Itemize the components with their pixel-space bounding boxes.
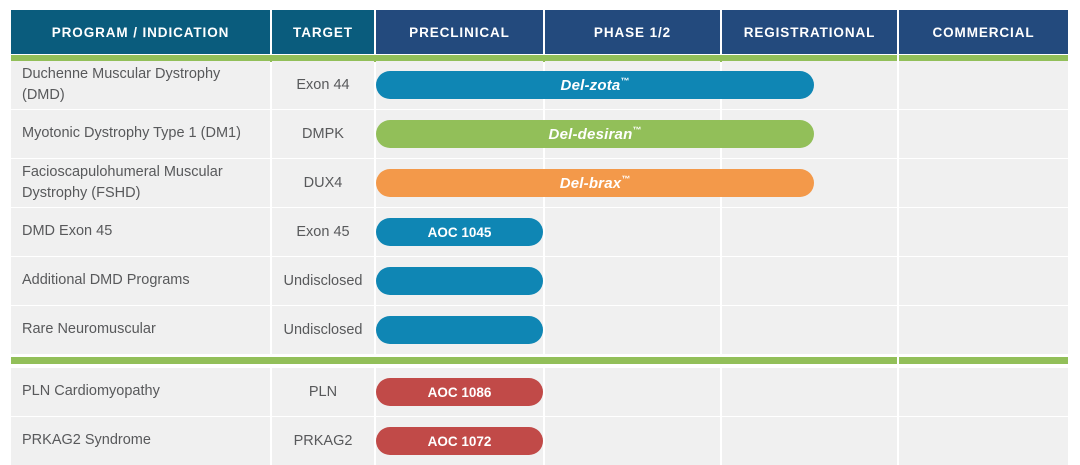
- cell-commercial: [899, 306, 1068, 354]
- pipeline-pill-aoc-1072[interactable]: AOC 1072: [376, 427, 543, 455]
- cell-registrational: [722, 417, 897, 465]
- row-target: Exon 44: [272, 61, 374, 109]
- pipeline-pill-aoc-1045[interactable]: AOC 1045: [376, 218, 543, 246]
- pill-label: AOC 1045: [428, 225, 492, 240]
- row-program: Facioscapulohumeral Muscular Dystrophy (…: [11, 159, 270, 207]
- column-header-label: PRECLINICAL: [409, 25, 510, 40]
- row-target: Exon 45: [272, 208, 374, 256]
- table-row: PLN Cardiomyopathy PLN AOC 1086: [11, 368, 1068, 416]
- table-row: Duchenne Muscular Dystrophy (DMD) Exon 4…: [11, 61, 1068, 109]
- cell-phase-1-2: [545, 368, 720, 416]
- pipeline-pill-del-brax[interactable]: Del-brax™: [376, 169, 814, 197]
- column-header-label: REGISTRATIONAL: [744, 25, 876, 40]
- column-header-label: PROGRAM / INDICATION: [52, 25, 230, 40]
- cell-phase-1-2: [545, 208, 720, 256]
- row-program: Additional DMD Programs: [11, 257, 270, 305]
- pill-label: Del-brax: [560, 175, 622, 192]
- cell-registrational: [722, 208, 897, 256]
- row-target: PLN: [272, 368, 374, 416]
- pipeline-header-row: PROGRAM / INDICATION TARGET PRECLINICAL …: [11, 10, 1068, 54]
- pipeline-pill-additional-dmd[interactable]: [376, 267, 543, 295]
- table-row: Rare Neuromuscular Undisclosed: [11, 306, 1068, 354]
- row-program: Rare Neuromuscular: [11, 306, 270, 354]
- row-program: Duchenne Muscular Dystrophy (DMD): [11, 61, 270, 109]
- table-row: PRKAG2 Syndrome PRKAG2 AOC 1072: [11, 417, 1068, 465]
- trademark-symbol: ™: [621, 174, 630, 184]
- table-row: Facioscapulohumeral Muscular Dystrophy (…: [11, 159, 1068, 207]
- cell-registrational: [722, 257, 897, 305]
- column-header-label: COMMERCIAL: [933, 25, 1035, 40]
- table-row: DMD Exon 45 Exon 45 AOC 1045: [11, 208, 1068, 256]
- pipeline-chart: PROGRAM / INDICATION TARGET PRECLINICAL …: [11, 10, 1068, 457]
- pipeline-pill-rare-neuromuscular[interactable]: [376, 316, 543, 344]
- pill-label: Del-zota: [561, 77, 621, 94]
- table-row: Myotonic Dystrophy Type 1 (DM1) DMPK Del…: [11, 110, 1068, 158]
- cell-phase-1-2: [545, 257, 720, 305]
- row-target: DMPK: [272, 110, 374, 158]
- trademark-symbol: ™: [620, 76, 629, 86]
- pipeline-pill-del-zota[interactable]: Del-zota™: [376, 71, 814, 99]
- column-header-program-indication: PROGRAM / INDICATION: [11, 10, 270, 54]
- row-target: PRKAG2: [272, 417, 374, 465]
- column-header-phase-1-2: PHASE 1/2: [545, 10, 720, 54]
- row-program: PLN Cardiomyopathy: [11, 368, 270, 416]
- row-program: Myotonic Dystrophy Type 1 (DM1): [11, 110, 270, 158]
- cell-commercial: [899, 417, 1068, 465]
- cell-phase-1-2: [545, 417, 720, 465]
- cell-commercial: [899, 368, 1068, 416]
- trademark-symbol: ™: [632, 125, 641, 135]
- divider-section-left: [11, 357, 897, 364]
- pipeline-pill-aoc-1086[interactable]: AOC 1086: [376, 378, 543, 406]
- pipeline-body: Duchenne Muscular Dystrophy (DMD) Exon 4…: [11, 61, 1068, 457]
- cell-registrational: [722, 368, 897, 416]
- pipeline-pill-del-desiran[interactable]: Del-desiran™: [376, 120, 814, 148]
- pill-label: AOC 1086: [428, 385, 492, 400]
- column-header-registrational: REGISTRATIONAL: [722, 10, 897, 54]
- cell-commercial: [899, 159, 1068, 207]
- row-target: Undisclosed: [272, 306, 374, 354]
- column-header-label: TARGET: [293, 25, 353, 40]
- row-program: PRKAG2 Syndrome: [11, 417, 270, 465]
- pill-label: Del-desiran: [549, 126, 633, 143]
- table-row: Additional DMD Programs Undisclosed: [11, 257, 1068, 305]
- cell-commercial: [899, 208, 1068, 256]
- column-header-preclinical: PRECLINICAL: [376, 10, 543, 54]
- cell-commercial: [899, 257, 1068, 305]
- cell-commercial: [899, 110, 1068, 158]
- cell-commercial: [899, 61, 1068, 109]
- column-header-label: PHASE 1/2: [594, 25, 671, 40]
- row-target: Undisclosed: [272, 257, 374, 305]
- column-header-commercial: COMMERCIAL: [899, 10, 1068, 54]
- cell-registrational: [722, 306, 897, 354]
- cell-phase-1-2: [545, 306, 720, 354]
- row-program: DMD Exon 45: [11, 208, 270, 256]
- row-target: DUX4: [272, 159, 374, 207]
- column-header-target: TARGET: [272, 10, 374, 54]
- divider-section-right: [899, 357, 1068, 364]
- pill-label: AOC 1072: [428, 434, 492, 449]
